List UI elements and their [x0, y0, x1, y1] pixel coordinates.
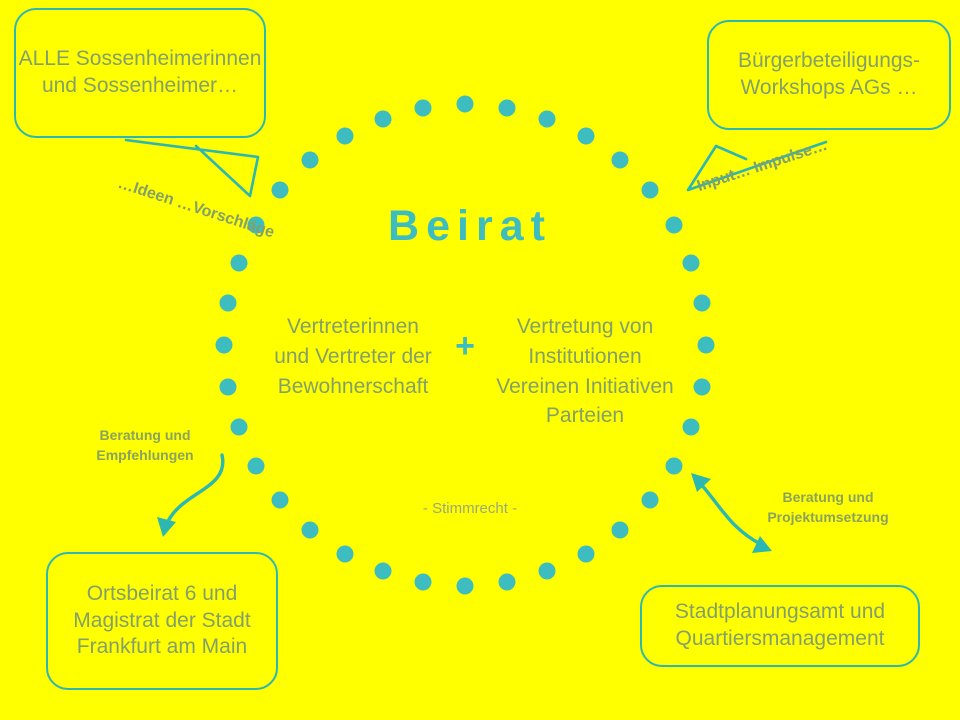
ring-dot [457, 96, 474, 113]
ring-dot [683, 254, 700, 271]
ring-dot [577, 128, 594, 145]
ring-dot [498, 99, 515, 116]
ring-dot [641, 491, 658, 508]
callout-box-citizens-label: ALLE Sossenheimerinnen und Sossenheimer… [16, 46, 264, 100]
ring-dot [539, 563, 556, 580]
ring-dot [216, 337, 233, 354]
callout-box-ortsbeirat: Ortsbeirat 6 und Magistrat der Stadt Fra… [46, 552, 278, 690]
center-column-residents: Vertreterinnen und Vertreter der Bewohne… [268, 312, 438, 401]
center-column-institutions: Vertretung von Institutionen Vereinen In… [496, 312, 674, 431]
arrow-label-beratung-projektumsetzung: Beratung und Projektumsetzung [742, 488, 914, 527]
ring-dot [415, 99, 432, 116]
ring-dot [694, 378, 711, 395]
ring-dot [611, 521, 628, 538]
center-footnote-stimmrecht: - Stimmrecht - [345, 500, 595, 517]
ring-dot [457, 578, 474, 595]
ring-dot [415, 574, 432, 591]
diagram-canvas: ALLE Sossenheimerinnen und Sossenheimer…… [0, 0, 960, 720]
plus-icon: + [443, 327, 487, 366]
ring-dot [219, 378, 236, 395]
callout-box-stadtplanung-label: Stadtplanungsamt und Quartiersmanagement [642, 599, 918, 653]
curved-double-arrow-head-up-icon [691, 473, 711, 492]
ring-dot [539, 110, 556, 127]
ring-dot [577, 545, 594, 562]
tail-label-ideen: …Ideen …Vorschläge [115, 172, 277, 245]
callout-box-stadtplanung: Stadtplanungsamt und Quartiersmanagement [640, 585, 920, 667]
curved-double-arrow-head-down-icon [752, 536, 772, 553]
ring-dot [665, 457, 682, 474]
callout-box-workshops: Bürgerbeteiligungs- Workshops AGs … [707, 20, 951, 130]
ring-dot [272, 491, 289, 508]
ring-dot [374, 110, 391, 127]
ring-dot [641, 182, 658, 199]
ring-dot [248, 457, 265, 474]
ring-dot [302, 521, 319, 538]
tail-label-input: Input… Impulse… [694, 134, 831, 198]
ring-dot [272, 182, 289, 199]
ring-dot [336, 128, 353, 145]
arrow-label-beratung-empfehlungen: Beratung und Empfehlungen [70, 426, 220, 465]
curved-arrow-down-left-head-icon [157, 517, 176, 537]
ring-dot [336, 545, 353, 562]
ring-dot [498, 574, 515, 591]
callout-box-workshops-label: Bürgerbeteiligungs- Workshops AGs … [709, 48, 949, 102]
ring-dot [698, 337, 715, 354]
ring-dot [694, 295, 711, 312]
ring-dot [374, 563, 391, 580]
ring-dot [230, 419, 247, 436]
callout-box-citizens: ALLE Sossenheimerinnen und Sossenheimer… [14, 8, 266, 138]
ring-dot [683, 419, 700, 436]
ring-dot [665, 216, 682, 233]
curved-arrow-down-left-icon [166, 455, 223, 526]
ring-dot [302, 152, 319, 169]
ring-dot [230, 254, 247, 271]
ring-dot [219, 295, 236, 312]
ring-dot [611, 152, 628, 169]
diagram-title: Beirat [310, 202, 630, 251]
callout-box-ortsbeirat-label: Ortsbeirat 6 und Magistrat der Stadt Fra… [48, 581, 276, 662]
